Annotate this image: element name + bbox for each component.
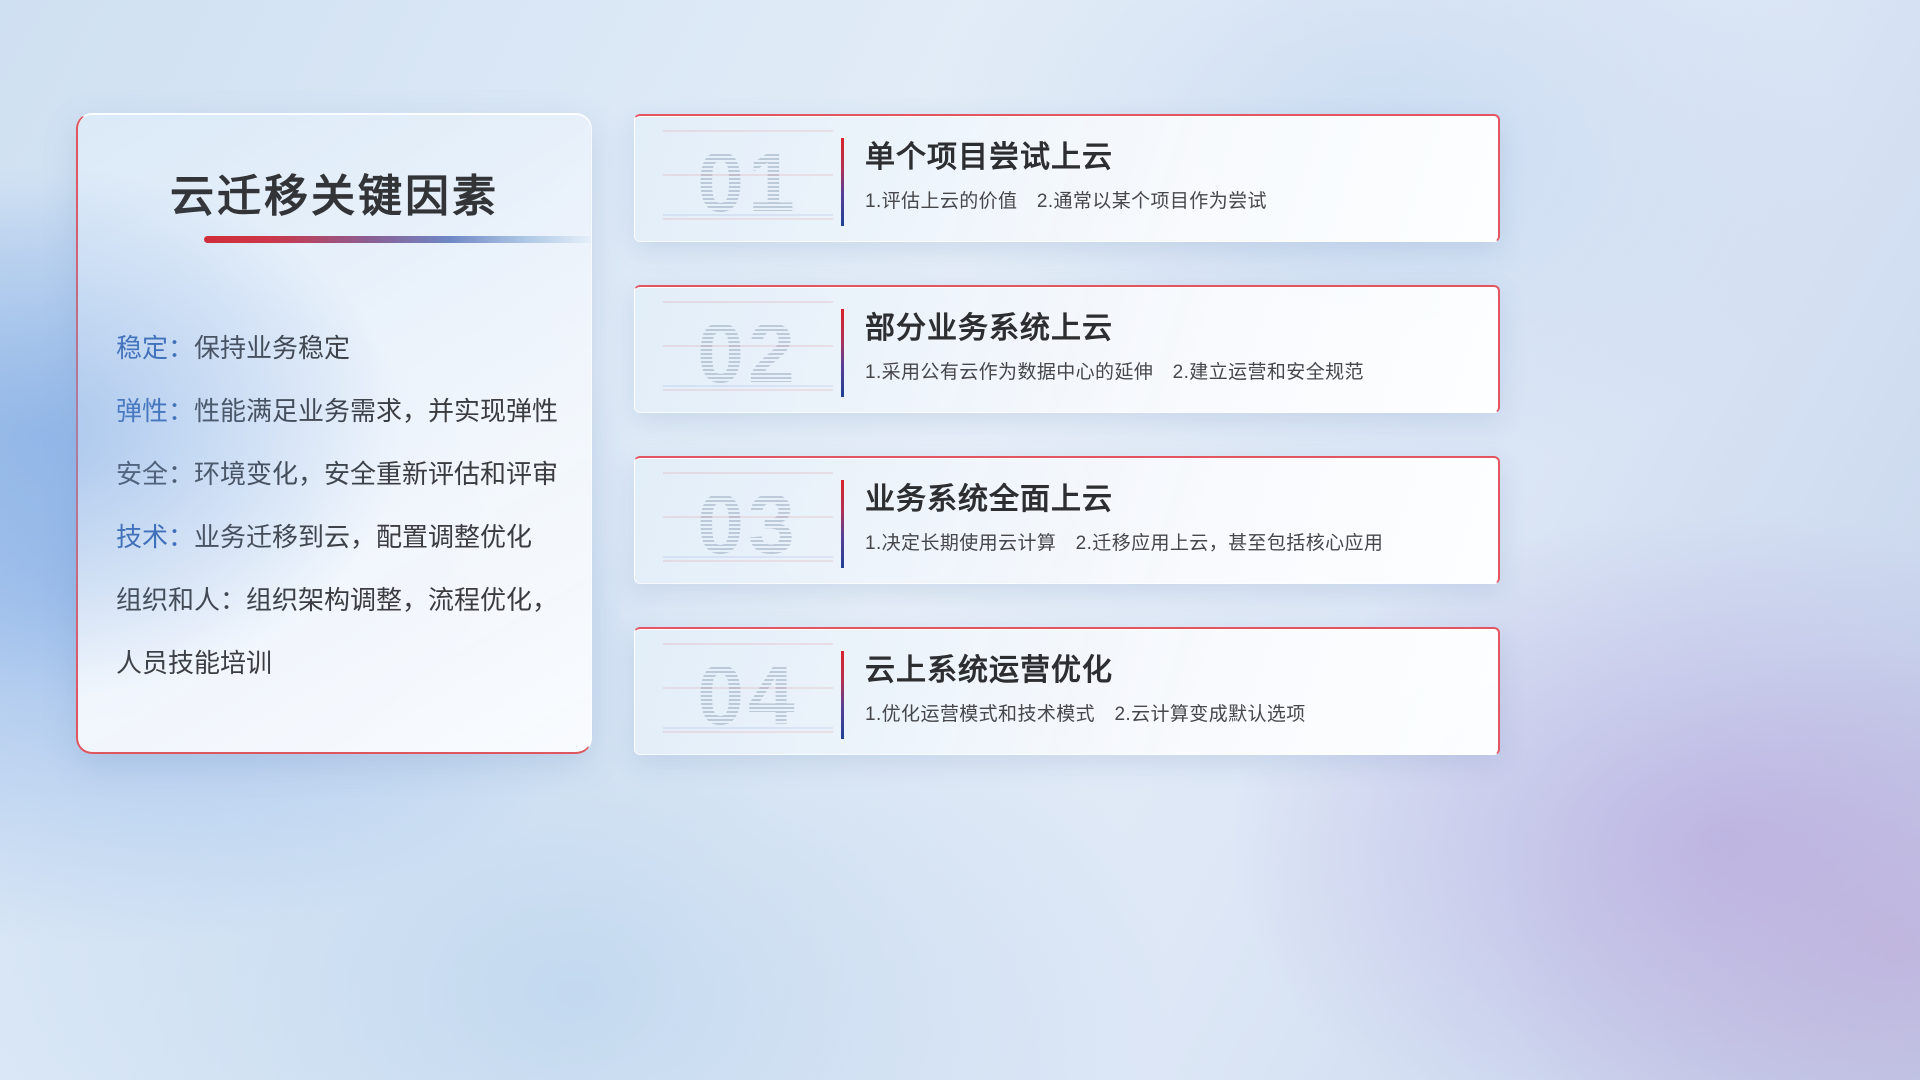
step-divider-accent [841,309,844,397]
step-subtitle: 1.采用公有云作为数据中心的延伸 2.建立运营和安全规范 [865,359,1474,387]
factor-value: 业务迁移到云，配置调整优化 [194,522,532,552]
step-card-body: 部分业务系统上云 1.采用公有云作为数据中心的延伸 2.建立运营和安全规范 [865,307,1474,387]
step-subtitle: 1.优化运营模式和技术模式 2.云计算变成默认选项 [865,701,1474,729]
title-underline-accent [204,236,592,243]
step-title: 部分业务系统上云 [865,307,1474,351]
factor-value: 性能满足业务需求，并实现弹性 [194,396,558,426]
step-number-watermark: 03 [663,472,833,576]
step-subtitle: 1.评估上云的价值 2.通常以某个项目作为尝试 [865,188,1474,216]
step-title: 业务系统全面上云 [865,478,1474,522]
list-item: 稳定：保持业务稳定 [116,317,569,380]
slide-canvas: 云迁移关键因素 稳定：保持业务稳定 弹性：性能满足业务需求，并实现弹性 安全：环… [0,0,1920,1080]
step-card-01[interactable]: 01 单个项目尝试上云 1.评估上云的价值 2.通常以某个项目作为尝试 [634,114,1500,242]
step-card-body: 单个项目尝试上云 1.评估上云的价值 2.通常以某个项目作为尝试 [865,136,1474,216]
step-card-02[interactable]: 02 部分业务系统上云 1.采用公有云作为数据中心的延伸 2.建立运营和安全规范 [634,285,1500,413]
step-divider-accent [841,480,844,568]
step-title: 云上系统运营优化 [865,649,1474,693]
step-card-04[interactable]: 04 云上系统运营优化 1.优化运营模式和技术模式 2.云计算变成默认选项 [634,627,1500,755]
step-number-watermark: 02 [663,301,833,405]
factor-list: 稳定：保持业务稳定 弹性：性能满足业务需求，并实现弹性 安全：环境变化，安全重新… [116,317,569,695]
step-card-body: 云上系统运营优化 1.优化运营模式和技术模式 2.云计算变成默认选项 [865,649,1474,729]
step-divider-accent [841,651,844,739]
factor-value: 组织架构调整，流程优化， [246,585,558,615]
factor-key: 组织和人： [116,585,246,615]
factor-key: 弹性： [116,396,194,426]
factor-key: 稳定： [116,333,194,363]
factor-value: 保持业务稳定 [194,333,350,363]
factor-key: 技术： [116,522,194,552]
step-number-watermark: 04 [663,643,833,747]
list-item: 技术：业务迁移到云，配置调整优化 [116,506,569,569]
list-item: 组织和人：组织架构调整，流程优化， [116,569,569,632]
list-item: 安全：环境变化，安全重新评估和评审 [116,443,569,506]
step-card-03[interactable]: 03 业务系统全面上云 1.决定长期使用云计算 2.迁移应用上云，甚至包括核心应… [634,456,1500,584]
key-factors-panel: 云迁移关键因素 稳定：保持业务稳定 弹性：性能满足业务需求，并实现弹性 安全：环… [76,113,592,754]
page-title: 云迁移关键因素 [78,160,591,224]
list-item: 人员技能培训 [116,632,569,695]
step-card-body: 业务系统全面上云 1.决定长期使用云计算 2.迁移应用上云，甚至包括核心应用 [865,478,1474,558]
step-number-watermark: 01 [663,130,833,234]
factor-key: 安全： [116,459,194,489]
list-item: 弹性：性能满足业务需求，并实现弹性 [116,380,569,443]
factor-value: 人员技能培训 [116,648,272,678]
migration-steps-list: 01 单个项目尝试上云 1.评估上云的价值 2.通常以某个项目作为尝试 02 部… [634,114,1500,755]
step-title: 单个项目尝试上云 [865,136,1474,180]
step-subtitle: 1.决定长期使用云计算 2.迁移应用上云，甚至包括核心应用 [865,530,1474,558]
factor-value: 环境变化，安全重新评估和评审 [194,459,558,489]
step-divider-accent [841,138,844,226]
